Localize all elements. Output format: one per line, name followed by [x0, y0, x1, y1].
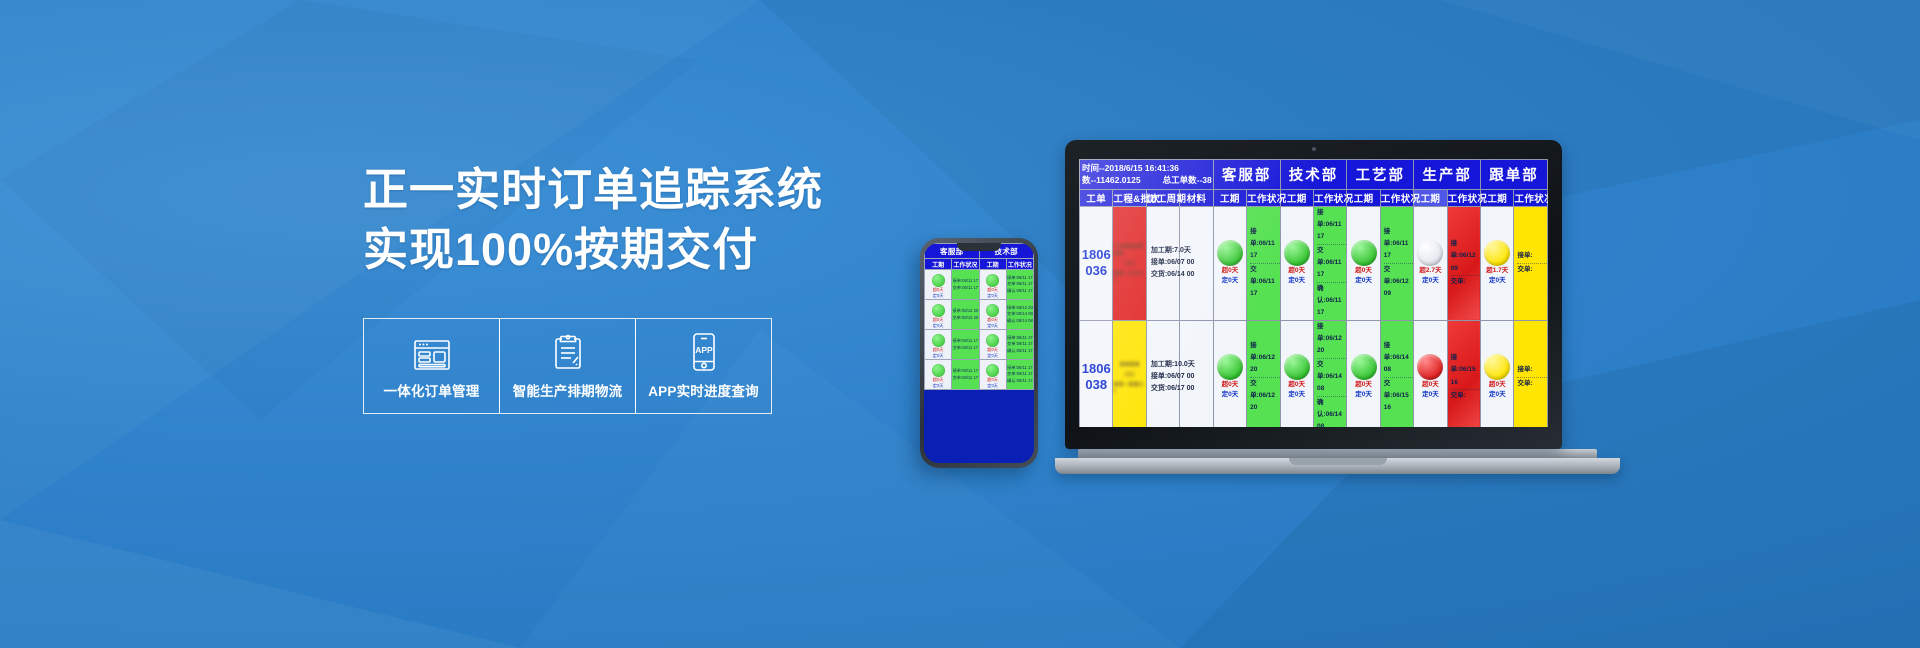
status-indicator-green [1284, 354, 1310, 380]
phone-cell-work-status[interactable]: 接单:06/11 17交单:06/11 17 [952, 330, 979, 360]
col-work-order: 工单 [1080, 189, 1113, 206]
status-indicator-green [986, 334, 999, 347]
phone-table-row[interactable]: 超0天定0天接单:06/11 17交单:06/11 17超0天定0天接单:06/… [925, 330, 1034, 360]
cell-dept-work-status[interactable]: 接单:06/14 08交单:06/15 16 [1380, 320, 1413, 427]
cell-dept-period[interactable]: 超0天定0天 [1414, 320, 1447, 427]
work-status-line: 交单:06/12 20 [1250, 378, 1279, 415]
scheduled-days-label: 定0天 [925, 383, 951, 389]
cell-dept-work-status[interactable]: 接单:06/11 17交单:06/12 09 [1380, 206, 1413, 320]
status-indicator-green [986, 364, 999, 377]
status-indicator-yellow [1484, 240, 1510, 266]
status-indicator-red [1417, 354, 1443, 380]
scheduled-days-label: 定0天 [1214, 390, 1246, 400]
scheduled-days-label: 定0天 [980, 293, 1006, 299]
cell-dept-period[interactable]: 超0天定0天 [1347, 320, 1380, 427]
phone-table-row[interactable]: 超0天定0天接单:06/11 17交单:06/11 17超0天定0天接单:06/… [925, 360, 1034, 390]
feature-label: 一体化订单管理 [384, 380, 480, 400]
cell-dept-period[interactable]: 超0天定0天 [1213, 320, 1246, 427]
dept-header-production: 生产部 [1414, 160, 1481, 190]
work-status-line: 交单:06/12 09 [1384, 264, 1413, 301]
scheduled-days-label: 定0天 [1414, 390, 1446, 400]
phone-order-table: 客服部 技术部 工期 工作状况 工期 工作状况 超0天定0天接单:06/11 1… [924, 243, 1034, 390]
work-status-line: 确认:06/14 08 [1317, 397, 1346, 427]
cell-work-order: 1806036 [1080, 206, 1113, 320]
work-status-line: 交单:06/11 17 [1007, 341, 1033, 347]
status-indicator-green [1217, 354, 1243, 380]
phone-notch [957, 243, 1001, 251]
scheduled-days-label: 定0天 [1214, 276, 1246, 286]
work-status-line: 交单:06/11 17 [1250, 264, 1279, 301]
table-body: 1806036广州某某某某某某口口某某一口口口1加工期:7.0天接单:06/07… [1080, 206, 1548, 427]
col-status-tech: 工作状况 [1313, 189, 1346, 206]
cell-dept-work-status[interactable]: 接单:06/15 16交单: [1447, 320, 1480, 427]
overdue-days-label: 超0天 [1281, 380, 1313, 390]
cell-project-batch: 广州某某某某某某口口某某一口口口1 [1113, 206, 1146, 320]
cell-dept-work-status[interactable]: 接单:06/11 17交单:06/11 17 [1247, 206, 1280, 320]
laptop-hinge [1078, 449, 1597, 458]
overdue-days-label: 超0天 [1347, 380, 1379, 390]
laptop-base [1055, 458, 1620, 474]
cell-processing-cycle: 加工期:7.0天接单:06/07 00交货:06/14 00 [1146, 206, 1179, 320]
cell-dept-period[interactable]: 超0天定0天 [1481, 320, 1514, 427]
cell-dept-period[interactable]: 超0天定0天 [1213, 206, 1246, 320]
col-status-production: 工作状况 [1447, 189, 1480, 206]
work-status-line: 接单:06/11 17 [952, 278, 978, 284]
work-status-line: 接单:06/14 08 [1384, 340, 1413, 378]
col-period-cs: 工期 [1213, 189, 1246, 206]
scheduled-days-label: 定0天 [925, 353, 951, 359]
work-status-line: 交单: [1517, 378, 1547, 390]
dashboard-meta: 时间--2018/6/15 16:41:36 数--11462.0125 总工单… [1080, 160, 1214, 190]
current-time-label: 时间--2018/6/15 16:41:36 [1082, 162, 1213, 174]
work-status-line: 确认:06/11 17 [1007, 378, 1033, 384]
cell-project-batch: 某某某某口口某某一某某口1 [1113, 320, 1146, 427]
phone-cell-work-status[interactable]: 接单:06/11 17交单:06/11 17确认:06/11 17 [1006, 330, 1033, 360]
table-row[interactable]: 1806038某某某某口口某某一某某口1加工期:10.0天接单:06/07 00… [1080, 320, 1548, 427]
cell-dept-work-status[interactable]: 接单:06/12 09交单: [1447, 206, 1480, 320]
status-indicator-green [1284, 240, 1310, 266]
phone-cell-period[interactable]: 超0天定0天 [925, 300, 952, 330]
status-indicator-green [1351, 354, 1377, 380]
phone-col-period: 工期 [979, 259, 1006, 270]
feature-label: APP实时进度查询 [648, 380, 759, 400]
phone-cell-period[interactable]: 超0天定0天 [979, 270, 1006, 300]
col-project-batch: 工程&批次 [1113, 189, 1146, 206]
laptop-screen: 时间--2018/6/15 16:41:36 数--11462.0125 总工单… [1079, 159, 1548, 427]
table-row[interactable]: 1806036广州某某某某某某口口某某一口口口1加工期:7.0天接单:06/07… [1080, 206, 1548, 320]
work-status-line: 交单: [1451, 390, 1480, 402]
phone-cell-period[interactable]: 超0天定0天 [979, 330, 1006, 360]
mobile-app-icon: APP [690, 332, 718, 372]
cell-dept-period[interactable]: 超0天定0天 [1280, 206, 1313, 320]
overdue-days-label: 超0天 [1214, 380, 1246, 390]
title-line-1: 正一实时订单追踪系统 [363, 160, 833, 220]
phone-cell-work-status[interactable]: 接单:06/11 17交单:06/11 17确认:06/11 17 [1006, 360, 1033, 390]
col-processing-cycle: 加工周期 [1146, 189, 1179, 206]
phone-cell-period[interactable]: 超0天定0天 [925, 330, 952, 360]
status-indicator-green [986, 274, 999, 287]
phone-table-row[interactable]: 超0天定0天接单:06/11 17交单:06/11 17超0天定0天接单:06/… [925, 270, 1034, 300]
work-status-line: 接单:06/12 20 [1250, 340, 1279, 378]
work-status-line: 交单:06/12 20 [952, 315, 978, 321]
work-status-line: 交单:06/14 08 [1007, 311, 1033, 317]
work-status-line: 交单:06/11 17 [952, 345, 978, 351]
title-line-2: 实现100%按期交付 [363, 220, 833, 280]
phone-cell-period[interactable]: 超0天定0天 [925, 360, 952, 390]
scheduled-days-label: 定0天 [925, 293, 951, 299]
scheduled-days-label: 定0天 [980, 353, 1006, 359]
work-status-line: 接单: [1517, 364, 1547, 377]
feature-card-order-management[interactable]: 一体化订单管理 [363, 318, 500, 414]
work-status-line: 交单:06/11 17 [1007, 371, 1033, 377]
phone-table-body: 超0天定0天接单:06/11 17交单:06/11 17超0天定0天接单:06/… [925, 270, 1034, 390]
dept-header-process: 工艺部 [1347, 160, 1414, 190]
cell-processing-cycle: 加工期:10.0天接单:06/07 00交货:06/17 00 [1146, 320, 1179, 427]
phone-col-status: 工作状况 [1006, 259, 1033, 270]
phone-table-sub-header: 工期 工作状况 工期 工作状况 [925, 259, 1034, 270]
scheduled-days-label: 定0天 [1481, 390, 1513, 400]
overdue-days-label: 超0天 [1347, 266, 1379, 276]
work-status-line: 确认:06/11 17 [1317, 283, 1346, 320]
scheduled-days-label: 定0天 [1414, 276, 1446, 286]
work-status-line: 确认:06/11 17 [1007, 348, 1033, 354]
work-status-line: 接单:06/12 20 [1317, 321, 1346, 359]
work-status-line: 确认:06/11 17 [1007, 288, 1033, 294]
phone-cell-period[interactable]: 超0天定0天 [979, 360, 1006, 390]
work-status-line: 交单: [1451, 276, 1480, 288]
overdue-days-label: 超0天 [1281, 266, 1313, 276]
dept-header-technology: 技术部 [1280, 160, 1347, 190]
scheduled-days-label: 定0天 [1347, 276, 1379, 286]
scheduled-days-label: 定0天 [1281, 390, 1313, 400]
phone-table-row[interactable]: 超0天定0天接单:06/12 20交单:06/12 20超0天定0天接单:06/… [925, 300, 1034, 330]
phone-cell-period[interactable]: 超0天定0天 [979, 300, 1006, 330]
status-indicator-green [932, 364, 945, 377]
feature-card-app-progress[interactable]: APP APP实时进度查询 [635, 318, 772, 414]
status-indicator-yellow [1484, 354, 1510, 380]
cell-work-order: 1806038 [1080, 320, 1113, 427]
scheduled-days-label: 定0天 [1481, 276, 1513, 286]
serial-count-label: 数--11462.0125 [1082, 174, 1141, 186]
cell-dept-work-status[interactable]: 接单:06/12 20交单:06/12 20 [1247, 320, 1280, 427]
cell-dept-work-status[interactable]: 接单:06/11 17交单:06/11 17确认:06/11 17 [1313, 206, 1346, 320]
status-indicator-green [1217, 240, 1243, 266]
page-title: 正一实时订单追踪系统 实现100%按期交付 [363, 160, 833, 280]
phone-cell-work-status[interactable]: 接单:06/11 17交单:06/11 17确认:06/11 17 [1006, 270, 1033, 300]
feature-list: 一体化订单管理 智能生产排期物流 [363, 318, 833, 414]
scheduled-days-label: 定0天 [1347, 390, 1379, 400]
work-status-line: 交单: [1517, 264, 1547, 276]
hero-copy: 正一实时订单追踪系统 实现100%按期交付 一体化订单管理 [363, 160, 833, 414]
table-header-sub: 工单 工程&批次 加工周期 材料 工期 工作状况 工期 工作状况 工期 工作状况… [1080, 189, 1548, 206]
status-indicator-green [932, 304, 945, 317]
cell-dept-work-status[interactable]: 接单:交单: [1514, 320, 1548, 427]
cell-dept-period[interactable]: 超0天定0天 [1347, 206, 1380, 320]
feature-label: 智能生产排期物流 [513, 380, 623, 400]
scheduled-days-label: 定0天 [925, 323, 951, 329]
work-status-line: 接单:06/12 20 [952, 308, 978, 314]
feature-card-production-schedule[interactable]: 智能生产排期物流 [499, 318, 636, 414]
work-status-line: 接单:06/11 17 [952, 338, 978, 344]
cell-dept-work-status[interactable]: 接单:06/12 20交单:06/14 08确认:06/14 08 [1313, 320, 1346, 427]
work-status-line: 交单:06/11 17 [952, 375, 978, 381]
dept-header-customer-service: 客服部 [1213, 160, 1280, 190]
overdue-days-label: 超0天 [1481, 380, 1513, 390]
overdue-days-label: 超0天 [1214, 266, 1246, 276]
status-indicator-green [932, 274, 945, 287]
work-status-line: 交单:06/11 17 [1317, 245, 1346, 283]
phone-cell-work-status[interactable]: 接单:06/11 17交单:06/11 17 [952, 360, 979, 390]
col-status-followup: 工作状况 [1514, 189, 1548, 206]
phone-cell-work-status[interactable]: 接单:06/12 20交单:06/12 20 [952, 300, 979, 330]
table-header-top: 时间--2018/6/15 16:41:36 数--11462.0125 总工单… [1080, 160, 1548, 190]
col-status-process: 工作状况 [1380, 189, 1413, 206]
overdue-days-label: 超1.7天 [1481, 266, 1513, 276]
col-status-cs: 工作状况 [1247, 189, 1280, 206]
cell-dept-period[interactable]: 超0天定0天 [1280, 320, 1313, 427]
work-status-line: 交单:06/11 17 [952, 285, 978, 291]
laptop-mockup: 时间--2018/6/15 16:41:36 数--11462.0125 总工单… [1055, 140, 1620, 474]
laptop-base-notch [1289, 458, 1387, 465]
phone-col-period: 工期 [925, 259, 952, 270]
order-tracking-table: 时间--2018/6/15 16:41:36 数--11462.0125 总工单… [1079, 159, 1548, 427]
work-status-line: 接单:06/11 17 [1317, 207, 1346, 245]
scheduled-days-label: 定0天 [980, 383, 1006, 389]
work-status-line: 交单:06/11 17 [1007, 281, 1033, 287]
cell-dept-work-status[interactable]: 接单:交单: [1514, 206, 1548, 320]
scheduled-days-label: 定0天 [1281, 276, 1313, 286]
work-status-line: 接单: [1517, 250, 1547, 263]
work-status-line: 接单:06/11 17 [1250, 226, 1279, 264]
phone-col-status: 工作状况 [952, 259, 979, 270]
cell-dept-period[interactable]: 超2.7天定0天 [1414, 206, 1447, 320]
work-status-line: 接单:06/11 17 [1384, 226, 1413, 264]
work-status-line: 确认:06/14 08 [1007, 318, 1033, 324]
phone-mockup: 客服部 技术部 工期 工作状况 工期 工作状况 超0天定0天接单:06/11 1… [920, 238, 1038, 468]
overdue-days-label: 超0天 [1414, 380, 1446, 390]
total-orders-label: 总工单数--38 [1163, 174, 1212, 186]
work-status-line: 接单:06/11 17 [952, 368, 978, 374]
work-status-line: 接单:06/12 09 [1451, 238, 1480, 276]
app-badge-text: APP [695, 345, 713, 355]
work-status-line: 接单:06/15 16 [1451, 352, 1480, 390]
phone-cell-work-status[interactable]: 接单:06/11 17交单:06/11 17 [952, 270, 979, 300]
status-indicator-green [986, 304, 999, 317]
clipboard-schedule-icon [551, 332, 585, 372]
order-window-icon [412, 332, 452, 372]
cell-dept-period[interactable]: 超1.7天定0天 [1481, 206, 1514, 320]
webcam-icon [1312, 147, 1316, 151]
phone-screen: 客服部 技术部 工期 工作状况 工期 工作状况 超0天定0天接单:06/11 1… [924, 243, 1034, 463]
status-indicator-green [932, 334, 945, 347]
scheduled-days-label: 定0天 [980, 323, 1006, 329]
phone-cell-work-status[interactable]: 接单:06/12 20交单:06/14 08确认:06/14 08 [1006, 300, 1033, 330]
device-mockups: 客服部 技术部 工期 工作状况 工期 工作状况 超0天定0天接单:06/11 1… [0, 0, 1920, 648]
work-status-line: 交单:06/14 08 [1317, 359, 1346, 397]
laptop-lid: 时间--2018/6/15 16:41:36 数--11462.0125 总工单… [1065, 140, 1562, 449]
overdue-days-label: 超2.7天 [1414, 266, 1446, 276]
phone-cell-period[interactable]: 超0天定0天 [925, 270, 952, 300]
work-status-line: 交单:06/15 16 [1384, 378, 1413, 415]
status-indicator-green [1351, 240, 1377, 266]
status-indicator-gray [1417, 240, 1443, 266]
dept-header-followup: 跟单部 [1481, 160, 1548, 190]
